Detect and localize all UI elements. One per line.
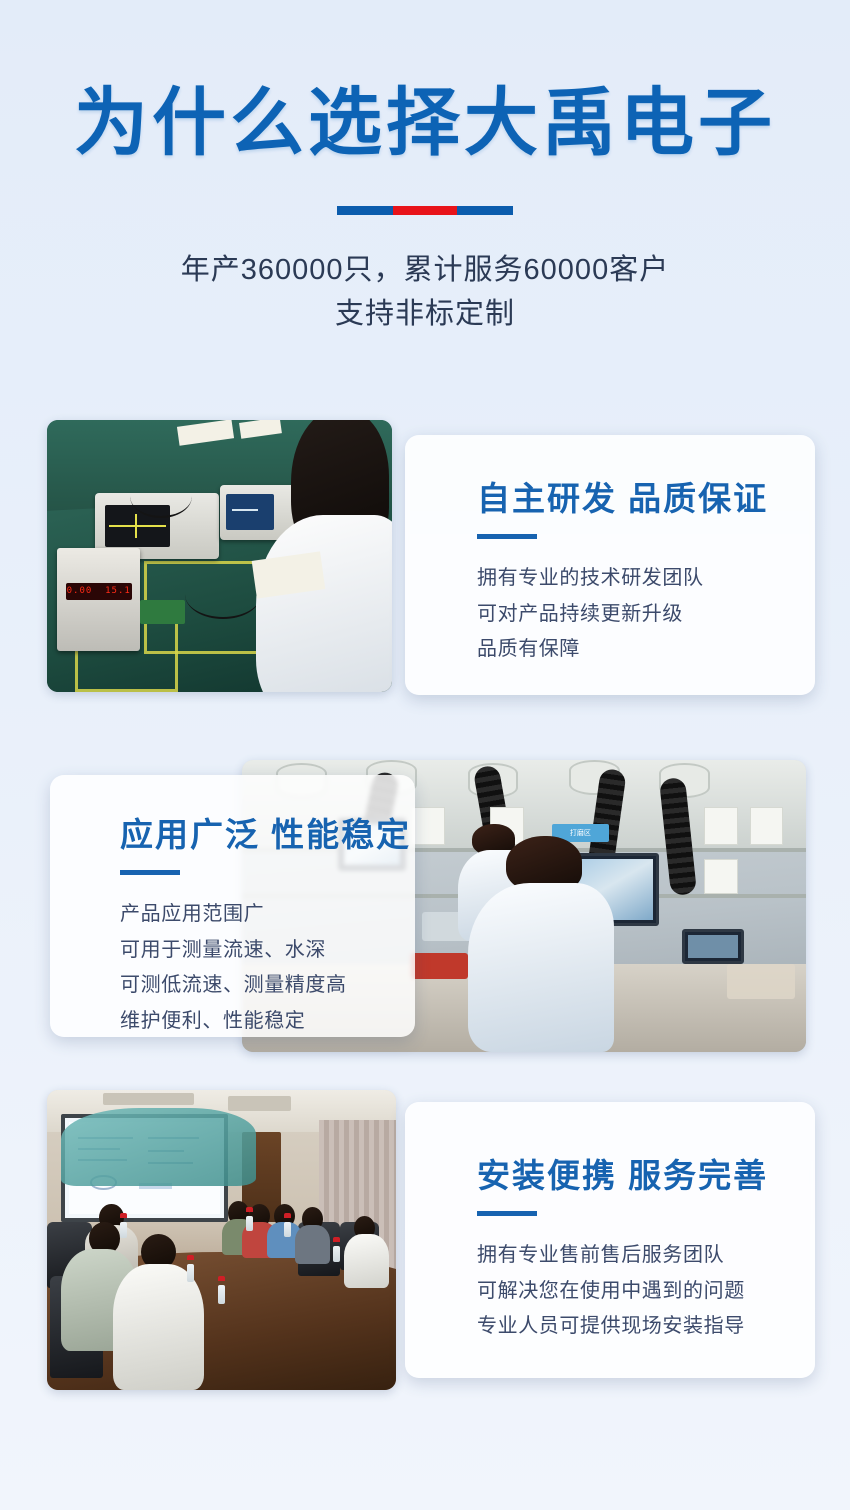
feature-card-2-line-2: 可用于测量流速、水深 — [120, 933, 415, 969]
feature-card-1-lines: 拥有专业的技术研发团队 可对产品持续更新升级 品质有保障 — [477, 561, 815, 668]
title-divider — [337, 206, 513, 215]
feature-card-1-line-1: 拥有专业的技术研发团队 — [477, 561, 815, 597]
feature-card-2-rule — [120, 870, 180, 875]
page-subtitle: 年产360000只，累计服务60000客户 支持非标定制 — [0, 249, 850, 336]
feature-card-1-line-2: 可对产品持续更新升级 — [477, 597, 815, 633]
subtitle-line-2: 支持非标定制 — [0, 293, 850, 337]
feature-card-2-lines: 产品应用范围广 可用于测量流速、水深 可测低流速、测量精度高 维护便利、性能稳定 — [120, 897, 415, 1039]
feature-section-2: 打磨区 — [0, 760, 850, 1052]
divider-segment-right — [457, 206, 513, 215]
divider-segment-red — [393, 206, 457, 215]
photo-rd-lab: 0.00 15.1 — [47, 420, 392, 692]
feature-section-3: 安装便携 服务完善 拥有专业售前售后服务团队 可解决您在使用中遇到的问题 专业人… — [0, 1090, 850, 1390]
subtitle-line-1: 年产360000只，累计服务60000客户 — [0, 249, 850, 293]
feature-card-2-line-3: 可测低流速、测量精度高 — [120, 968, 415, 1004]
photo-conference-training — [47, 1090, 396, 1390]
feature-card-3-line-2: 可解决您在使用中遇到的问题 — [477, 1274, 815, 1310]
page-title: 为什么选择大禹电子 — [0, 86, 850, 160]
feature-card-1-line-3: 品质有保障 — [477, 632, 815, 668]
feature-card-2: 应用广泛 性能稳定 产品应用范围广 可用于测量流速、水深 可测低流速、测量精度高… — [50, 775, 415, 1037]
feature-card-3-title: 安装便携 服务完善 — [477, 1158, 815, 1194]
page-header: 为什么选择大禹电子 年产360000只，累计服务60000客户 支持非标定制 — [0, 0, 850, 336]
feature-card-2-title: 应用广泛 性能稳定 — [120, 817, 415, 853]
feature-card-1-rule — [477, 534, 537, 539]
feature-card-3: 安装便携 服务完善 拥有专业售前售后服务团队 可解决您在使用中遇到的问题 专业人… — [405, 1102, 815, 1378]
feature-card-2-line-1: 产品应用范围广 — [120, 897, 415, 933]
feature-card-2-line-4: 维护便利、性能稳定 — [120, 1004, 415, 1040]
feature-card-3-line-1: 拥有专业售前售后服务团队 — [477, 1238, 815, 1274]
feature-card-3-line-3: 专业人员可提供现场安装指导 — [477, 1309, 815, 1345]
feature-card-3-rule — [477, 1211, 537, 1216]
feature-card-3-lines: 拥有专业售前售后服务团队 可解决您在使用中遇到的问题 专业人员可提供现场安装指导 — [477, 1238, 815, 1345]
feature-section-1: 0.00 15.1 自主研发 品质保证 拥有专业的技术研发团队 可对产品持续更新… — [0, 420, 850, 692]
feature-card-1-title: 自主研发 品质保证 — [477, 481, 815, 517]
divider-segment-left — [337, 206, 393, 215]
feature-card-1: 自主研发 品质保证 拥有专业的技术研发团队 可对产品持续更新升级 品质有保障 — [405, 435, 815, 695]
